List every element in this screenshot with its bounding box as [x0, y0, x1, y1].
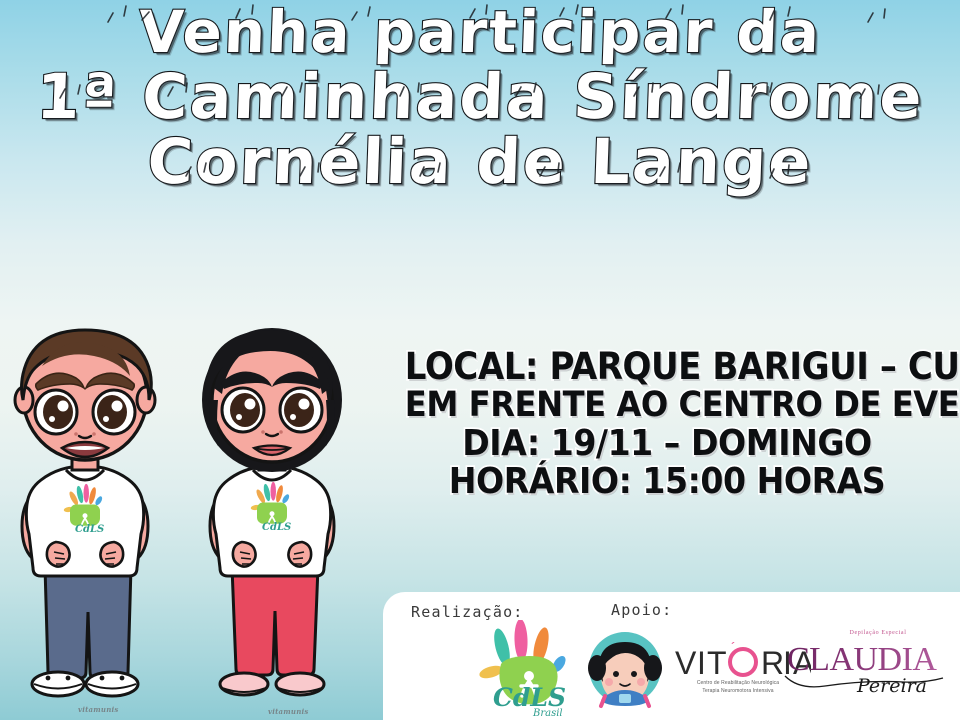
headline-line-2: 1ª Caminhada Síndrome	[0, 67, 960, 128]
claudia-wordmark: CLAUDIA	[787, 641, 937, 678]
event-location: LOCAL: PARQUE BARIGUI – CURITIBA	[405, 348, 929, 386]
svg-text:´: ´	[731, 639, 736, 655]
logo-claudia-pereira: Depilação Especial CLAUDIA Pereira	[783, 630, 955, 704]
claudia-top-text: Depilação Especial	[823, 630, 933, 636]
svg-text:T: T	[707, 645, 729, 681]
characters-illustration: CdLS	[0, 260, 400, 720]
event-location-detail: EM FRENTE AO CENTRO DE EVENTOS	[405, 387, 929, 423]
sketch-sparkles-icon	[0, 0, 960, 260]
event-date: DIA: 19/11 – DOMINGO	[405, 425, 929, 462]
vitoria-subtitle-2: Terapia Neuromotora Intensiva	[678, 688, 798, 694]
headline-block: Venha participar da 1ª Caminhada Síndrom…	[0, 4, 960, 192]
watermark-girl: vitamunis	[268, 707, 308, 716]
headline-line-1: Venha participar da	[0, 4, 960, 61]
svg-text:V: V	[675, 645, 698, 681]
poster-canvas: Venha participar da 1ª Caminhada Síndrom…	[0, 0, 960, 720]
claudia-script: Pereira	[856, 675, 927, 697]
watermark-boy: vitamunis	[78, 705, 118, 714]
cdls-subtitle: Brasil	[532, 708, 563, 718]
event-time: HORÁRIO: 15:00 HORAS	[405, 463, 929, 500]
event-info-block: LOCAL: PARQUE BARIGUI – CURITIBA EM FREN…	[382, 348, 952, 501]
apoio-label: Apoio:	[611, 601, 672, 619]
logo-vitoria: V I T ´ R I A Centro de Reabilitação Neu…	[583, 624, 811, 716]
headline-line-3: Cornélia de Lange	[0, 132, 960, 193]
logo-cdls-brasil: CdLS Brasil	[471, 620, 583, 718]
sponsor-panel: Realização: Apoio: CdLS Brasil	[383, 592, 960, 720]
vitoria-subtitle-1: Centro de Reabilitação Neurológica	[678, 680, 798, 686]
character-girl	[202, 328, 342, 695]
character-boy	[15, 330, 155, 696]
realizacao-label: Realização:	[411, 603, 524, 621]
